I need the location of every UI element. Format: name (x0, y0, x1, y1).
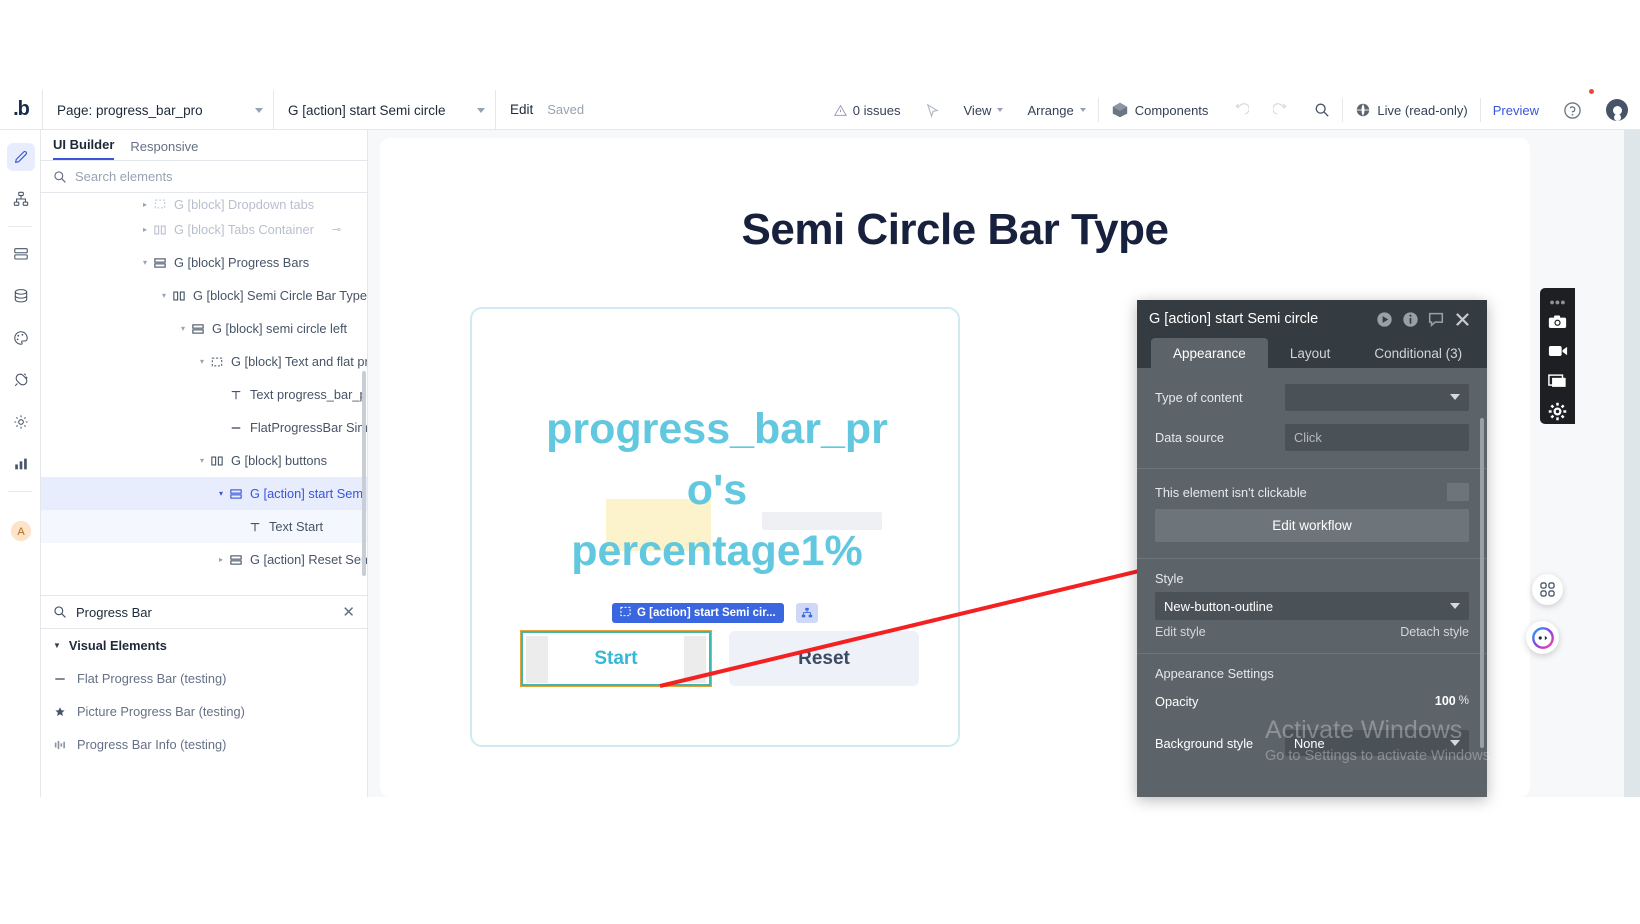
close-icon[interactable] (1449, 312, 1475, 327)
plug-icon (7, 366, 35, 394)
visual-elements-group-label: Visual Elements (69, 638, 167, 653)
clickable-note-row: This element isn't clickable (1137, 469, 1487, 509)
grid-fab-button[interactable] (1532, 574, 1563, 605)
edit-status: Edit Saved (496, 90, 598, 129)
tree-row-label: G [block] Tabs Container (174, 222, 314, 237)
palette-icon (7, 324, 35, 352)
button-right-padding (684, 636, 706, 683)
tab-responsive[interactable]: Responsive (130, 139, 198, 160)
svg-text:A: A (17, 526, 25, 538)
redo-button[interactable] (1261, 90, 1302, 130)
video-icon[interactable] (1540, 336, 1575, 366)
hierarchy-icon (801, 607, 813, 619)
tab-ui-builder[interactable]: UI Builder (53, 137, 114, 160)
layers-icon (7, 240, 35, 268)
type-of-content-label: Type of content (1155, 390, 1285, 405)
chevron-down-icon[interactable] (139, 258, 151, 267)
top-toolbar: .b Page: progress_bar_pro G [action] sta… (0, 90, 1640, 130)
tree-row[interactable]: G [block] Text and flat pr... (41, 345, 367, 378)
property-panel-tabs: Appearance Layout Conditional (3) (1137, 338, 1487, 368)
tree-row-label: G [block] Dropdown tabs (174, 197, 314, 212)
detach-style-link[interactable]: Detach style (1400, 625, 1469, 639)
rail-divider (8, 491, 32, 492)
property-editor-panel: G [action] start Semi circle Appearance … (1137, 300, 1487, 797)
style-value: New-button-outline (1164, 599, 1273, 614)
clickable-note-label: This element isn't clickable (1155, 485, 1307, 500)
help-icon (1563, 101, 1582, 120)
style-links-row: Edit style Detach style (1137, 620, 1487, 639)
repeat-icon: ⊸ (332, 223, 341, 236)
user-badge-icon: A (7, 517, 35, 545)
list-item[interactable]: Flat Progress Bar (testing) (41, 662, 367, 695)
play-icon[interactable] (1371, 311, 1397, 328)
semi-circle-bar-group[interactable]: progress_bar_pr o's percentage1% G [acti… (470, 307, 960, 747)
info-bars-icon (53, 739, 67, 751)
dashed-box-icon (151, 198, 169, 210)
chevron-down-icon[interactable] (196, 357, 208, 366)
data-source-row: Data source Click (1155, 422, 1469, 452)
list-item-label: Picture Progress Bar (testing) (77, 704, 245, 719)
sidebar-item-database[interactable] (0, 275, 41, 317)
search-elements-placeholder: Search elements (75, 169, 173, 184)
gear-icon[interactable] (1540, 396, 1575, 426)
element-search-value: Progress Bar (76, 605, 333, 620)
opacity-value[interactable]: 100 (1435, 694, 1456, 708)
tree-row-selected[interactable]: G [action] start Semi ... (41, 477, 367, 510)
arrange-menu[interactable]: Arrange (1015, 90, 1097, 130)
chevron-right-icon[interactable] (139, 225, 151, 234)
components-label: Components (1135, 103, 1209, 118)
start-button[interactable]: Start (521, 631, 711, 686)
progress-bar-text: progress_bar_pr o's percentage1% (502, 399, 932, 582)
chevron-right-icon[interactable] (215, 555, 227, 564)
chevron-right-icon[interactable] (139, 200, 151, 209)
sidebar-item-workflow[interactable] (0, 178, 41, 220)
tree-scrollbar[interactable] (362, 371, 366, 576)
rows-icon (227, 488, 245, 500)
search-elements-row[interactable]: Search elements (41, 161, 367, 193)
element-tree[interactable]: G [block] Dropdown tabs G [block] Tabs C… (41, 193, 367, 595)
info-icon[interactable] (1397, 311, 1423, 328)
tree-row-label: Text Start (269, 519, 323, 534)
issues-label: 0 issues (853, 103, 901, 118)
content-section: Type of content Data source Click (1137, 368, 1487, 468)
avatar-icon (1606, 99, 1628, 121)
selection-hierarchy-button[interactable] (796, 603, 818, 623)
progress-text-line-1: progress_bar_pr (502, 399, 932, 460)
globe-icon (1355, 102, 1371, 118)
tree-row[interactable]: G [block] semi circle left (41, 312, 367, 345)
chevron-down-icon (255, 108, 263, 113)
columns-icon (170, 290, 188, 302)
tree-row-label: G [block] buttons (231, 453, 327, 468)
list-item-label: Flat Progress Bar (testing) (77, 671, 226, 686)
view-menu[interactable]: View (952, 90, 1016, 130)
tree-row[interactable]: G [action] Reset Semi... (41, 543, 367, 576)
panel-tabs: UI Builder Responsive (41, 130, 367, 161)
search-icon (53, 170, 67, 184)
sidebar-item-data-layers[interactable] (0, 233, 41, 275)
visual-elements-group-header[interactable]: ▼ Visual Elements (41, 629, 367, 662)
element-selector[interactable]: G [action] start Semi circle (274, 90, 496, 130)
sidebar-item-styles[interactable] (0, 317, 41, 359)
element-selector-label: G [action] start Semi circle (288, 103, 469, 118)
tree-row[interactable]: G [block] Semi Circle Bar Type (41, 279, 367, 312)
pointer-icon (925, 103, 940, 118)
type-of-content-row: Type of content (1155, 382, 1469, 412)
tree-row[interactable]: Text progress_bar_pr... (41, 378, 367, 411)
search-icon (1314, 102, 1330, 118)
comment-icon[interactable] (1423, 310, 1449, 328)
dash-icon (227, 422, 245, 434)
data-source-label: Data source (1155, 430, 1285, 445)
grid-icon (1540, 582, 1555, 597)
clickable-checkbox[interactable] (1447, 483, 1469, 501)
dashed-box-icon (208, 356, 226, 368)
page-selector[interactable]: Page: progress_bar_pro (42, 90, 274, 130)
components-button[interactable]: Components (1099, 90, 1221, 130)
tab-layout[interactable]: Layout (1268, 338, 1353, 368)
opacity-unit: % (1459, 695, 1469, 707)
progress-text-line-2: o's (502, 460, 932, 521)
sidebar-item-logs[interactable] (0, 443, 41, 485)
style-select[interactable]: New-button-outline (1155, 592, 1469, 620)
reset-button-label: Reset (798, 648, 850, 670)
tree-row[interactable]: Text Start (41, 510, 367, 543)
page-title: Semi Circle Bar Type (380, 205, 1530, 255)
edit-workflow-button[interactable]: Edit workflow (1155, 509, 1469, 542)
warning-icon (834, 104, 847, 117)
selection-badge: G [action] start Semi cir... (612, 603, 784, 623)
rows-icon (227, 554, 245, 566)
element-search-row[interactable]: Progress Bar ✕ (41, 595, 367, 629)
edit-label[interactable]: Edit (510, 102, 533, 117)
data-source-input[interactable]: Click (1285, 424, 1469, 451)
chevron-down-icon[interactable] (196, 456, 208, 465)
data-source-placeholder: Click (1294, 430, 1322, 445)
star-icon (53, 706, 67, 718)
background-style-value: None (1294, 736, 1325, 751)
sidebar-item-account[interactable]: A (0, 510, 41, 552)
preview-button[interactable]: Preview (1481, 103, 1551, 118)
cursor-tool-button[interactable] (913, 90, 952, 130)
tree-row-label: G [block] Text and flat pr... (231, 354, 367, 369)
chevron-down-icon: ▼ (53, 641, 61, 650)
page-selector-label: Page: progress_bar_pro (57, 103, 247, 118)
dashed-box-icon (620, 606, 631, 620)
help-button[interactable] (1551, 90, 1594, 130)
button-left-padding (526, 636, 548, 683)
reset-button[interactable]: Reset (729, 631, 919, 686)
right-scroll-strip[interactable] (1624, 130, 1640, 797)
tree-row-label: G [block] Semi Circle Bar Type (193, 288, 367, 303)
chevron-down-icon[interactable] (177, 324, 189, 333)
chevron-down-icon[interactable] (158, 291, 170, 300)
app-root: .b Page: progress_bar_pro G [action] sta… (0, 0, 1640, 924)
property-panel-title: G [action] start Semi circle (1149, 311, 1371, 327)
tree-row-label: G [action] Reset Semi... (250, 552, 367, 567)
progress-text-line-3: percentage1% (502, 521, 932, 582)
tree-row[interactable]: G [block] buttons (41, 444, 367, 477)
columns-icon (208, 455, 226, 467)
chart-icon (7, 450, 35, 478)
chevron-down-icon (477, 108, 485, 113)
dash-icon (53, 673, 67, 685)
more-icon[interactable]: ●●● (1540, 297, 1575, 306)
tree-row-label: G [block] Progress Bars (174, 255, 309, 270)
rows-icon (151, 257, 169, 269)
notification-dot (1588, 88, 1595, 95)
chevron-down-icon (1450, 394, 1460, 400)
tab-conditional[interactable]: Conditional (3) (1352, 338, 1484, 368)
list-item[interactable]: Progress Bar Info (testing) (41, 728, 367, 761)
pencil-icon (7, 143, 35, 171)
window-icon[interactable] (1540, 366, 1575, 396)
tree-row[interactable]: FlatProgressBar Sime... (41, 411, 367, 444)
text-icon (246, 521, 264, 533)
sidebar-item-settings[interactable] (0, 401, 41, 443)
background-style-row: Background style None (1137, 729, 1487, 757)
tree-row-label: Text progress_bar_pr... (250, 387, 367, 402)
assistant-fab-button[interactable] (1526, 621, 1559, 654)
appearance-settings-label: Appearance Settings (1137, 654, 1487, 687)
gear-icon (7, 408, 35, 436)
opacity-row: Opacity 100 % (1137, 687, 1487, 715)
view-label: View (964, 103, 992, 118)
tree-row[interactable]: G [block] Progress Bars (41, 246, 367, 279)
canvas-buttons-group: Start Reset (521, 631, 921, 686)
cube-icon (1111, 101, 1129, 119)
tree-row[interactable]: G [block] Dropdown tabs (41, 195, 367, 213)
columns-icon (151, 224, 169, 236)
tree-row-label: FlatProgressBar Sime... (250, 420, 367, 435)
opacity-label: Opacity (1155, 694, 1198, 709)
property-panel-header: G [action] start Semi circle (1137, 300, 1487, 338)
live-label: Live (read-only) (1377, 103, 1467, 118)
tree-row[interactable]: G [block] Tabs Container ⊸ (41, 213, 367, 246)
saved-label: Saved (547, 102, 584, 117)
property-panel-scrollbar[interactable] (1480, 418, 1484, 748)
type-of-content-select[interactable] (1285, 384, 1469, 411)
text-icon (227, 389, 245, 401)
list-item-label: Progress Bar Info (testing) (77, 737, 226, 752)
issues-button[interactable]: 0 issues (822, 90, 913, 130)
bubble-assistant-icon (1531, 626, 1555, 650)
chevron-down-icon (1080, 108, 1086, 112)
background-style-select[interactable]: None (1285, 730, 1469, 756)
left-panel: UI Builder Responsive Search elements G … (41, 130, 368, 797)
chevron-down-icon (1450, 740, 1460, 746)
live-version-button[interactable]: Live (read-only) (1343, 90, 1479, 130)
sidebar-item-plugins[interactable] (0, 359, 41, 401)
selection-badge-label: G [action] start Semi cir... (637, 607, 776, 619)
style-label: Style (1137, 559, 1487, 592)
database-icon (7, 282, 35, 310)
arrange-label: Arrange (1027, 103, 1073, 118)
left-icon-rail: A (0, 130, 41, 797)
top-toolbar-right: 0 issues View Arrange Components (822, 90, 1640, 130)
close-icon[interactable]: ✕ (342, 603, 355, 621)
sitemap-icon (7, 185, 35, 213)
camera-icon[interactable] (1540, 306, 1575, 336)
edit-style-link[interactable]: Edit style (1155, 625, 1206, 639)
tree-row-label: G [block] semi circle left (212, 321, 347, 336)
tab-appearance[interactable]: Appearance (1151, 338, 1268, 368)
undo-button[interactable] (1220, 90, 1261, 130)
search-button[interactable] (1302, 90, 1342, 130)
tree-row-label: G [action] start Semi ... (250, 486, 367, 501)
redo-icon (1273, 102, 1290, 119)
start-button-label: Start (594, 648, 637, 670)
sidebar-item-design[interactable] (0, 136, 41, 178)
background-style-label: Background style (1155, 736, 1285, 751)
search-icon (53, 605, 67, 619)
rows-icon (189, 323, 207, 335)
undo-icon (1232, 102, 1249, 119)
chevron-down-icon (1450, 603, 1460, 609)
list-item[interactable]: Picture Progress Bar (testing) (41, 695, 367, 728)
screen-recorder-toolbar: ●●● (1540, 288, 1575, 424)
account-button[interactable] (1594, 90, 1640, 130)
chevron-down-icon[interactable] (215, 489, 227, 498)
rail-divider (8, 226, 32, 227)
bubble-logo[interactable]: .b (0, 90, 42, 129)
chevron-down-icon (997, 108, 1003, 112)
